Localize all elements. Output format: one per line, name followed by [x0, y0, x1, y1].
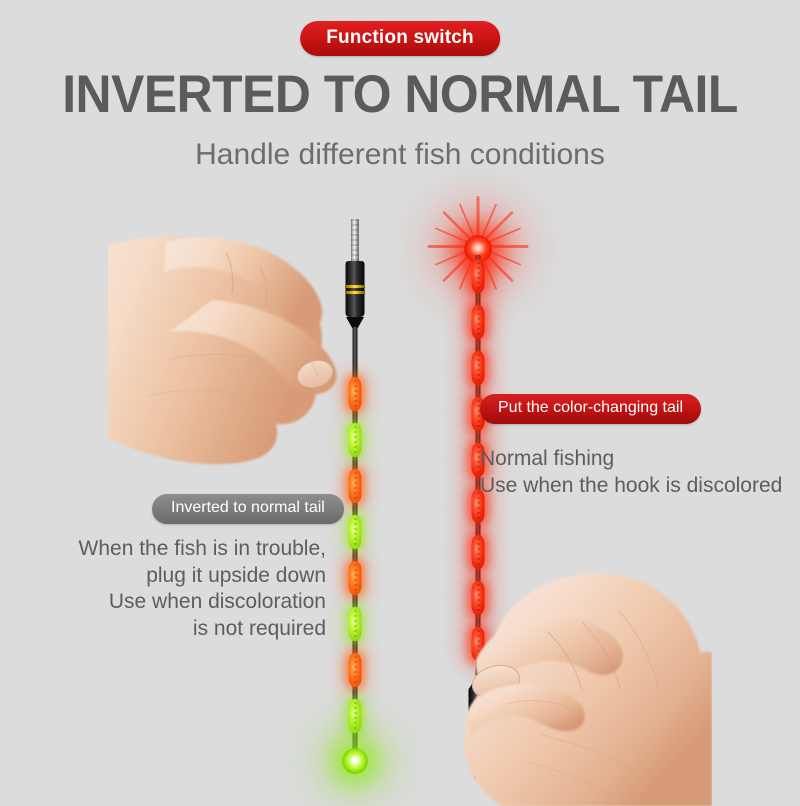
right-segment-1 — [472, 259, 485, 293]
right-segment-2 — [472, 305, 485, 339]
right-segment-3 — [472, 351, 485, 385]
page-subtitle: Handle different fish conditions — [0, 138, 800, 172]
right-hand-grip — [432, 556, 712, 806]
left-tip-glow — [342, 748, 368, 774]
left-segment-4 — [349, 515, 362, 549]
left-segment-8 — [349, 699, 362, 733]
left-hand-grip — [108, 228, 358, 498]
inverted-tail-badge: Inverted to normal tail — [152, 494, 344, 524]
left-segment-5 — [349, 561, 362, 595]
normal-fishing-description: Normal fishing Use when the hook is disc… — [480, 446, 800, 499]
inverted-tail-description: When the fish is in trouble, plug it ups… — [26, 536, 326, 643]
left-segment-7 — [349, 653, 362, 687]
left-segment-6 — [349, 607, 362, 641]
function-switch-badge: Function switch — [300, 21, 500, 56]
page-title: INVERTED TO NORMAL TAIL — [24, 66, 776, 123]
product-infographic: Function switch INVERTED TO NORMAL TAIL … — [0, 0, 800, 800]
color-changing-tail-badge: Put the color-changing tail — [480, 394, 701, 424]
